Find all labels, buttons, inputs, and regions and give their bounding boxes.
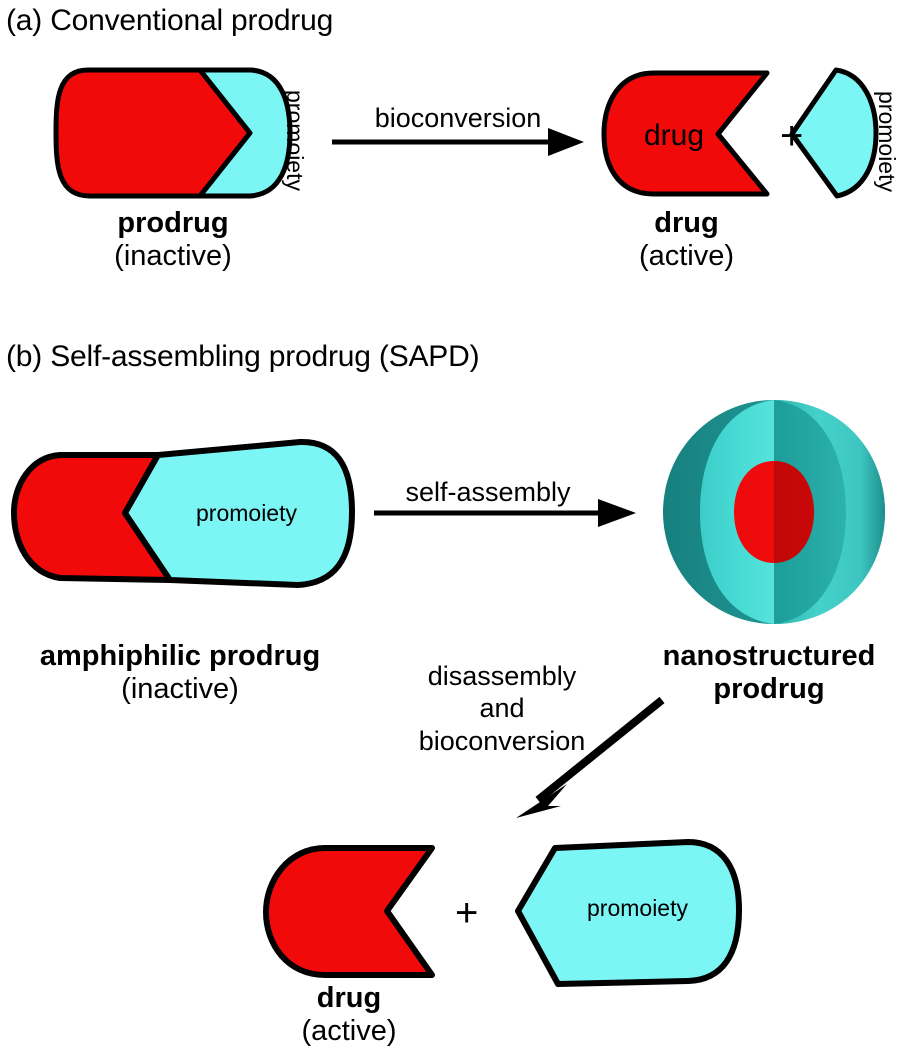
panel-b-product-drug — [266, 848, 432, 975]
panel-a-drug-caption: drug (active) — [604, 207, 769, 273]
disassembly-label-line2: and — [388, 692, 616, 724]
disassembly-label-line3: bioconversion — [388, 725, 616, 757]
drug-body — [604, 73, 767, 194]
promoiety-body — [518, 842, 739, 984]
panel-b-amphiphilic-caption-bold: amphiphilic prodrug — [10, 640, 350, 673]
promoiety-body — [792, 70, 876, 196]
panel-a-drug-shape — [604, 73, 767, 194]
panel-a-promoiety-shape — [792, 70, 876, 196]
panel-a-drug-caption-bold: drug — [604, 207, 769, 240]
disassembly-label-line1: disassembly — [388, 660, 616, 692]
promoiety-tail-segment — [125, 442, 352, 585]
panel-b-product-drug-caption-plain: (active) — [266, 1015, 432, 1048]
diagram-graphics — [0, 0, 908, 1058]
panel-a-title: (a) Conventional prodrug — [6, 4, 333, 38]
panel-a-prodrug-caption-bold: prodrug — [56, 207, 290, 240]
panel-b-title: (b) Self-assembling prodrug (SAPD) — [6, 340, 479, 374]
panel-b-plus-sign: + — [455, 893, 478, 933]
panel-a-drug-caption-plain: (active) — [604, 240, 769, 273]
figure-canvas: (a) Conventional prodrug promoiety prodr… — [0, 0, 908, 1058]
panel-a-prodrug-caption: prodrug (inactive) — [56, 207, 290, 273]
panel-b-product-drug-caption: drug (active) — [266, 982, 432, 1048]
panel-b-amphiphilic-caption: amphiphilic prodrug (inactive) — [10, 640, 350, 706]
panel-b-amphiphilic-caption-plain: (inactive) — [10, 673, 350, 706]
panel-b-product-promoiety — [518, 842, 739, 984]
nanostructured-sphere — [663, 400, 885, 624]
disassembly-arrow-label: disassembly and bioconversion — [388, 660, 616, 757]
drug-body — [266, 848, 432, 975]
panel-b-product-drug-caption-bold: drug — [266, 982, 432, 1015]
bioconversion-arrow-label: bioconversion — [332, 103, 584, 134]
panel-a-prodrug-capsule — [56, 70, 290, 196]
nanostructure-caption-line1: nanostructured — [630, 640, 908, 673]
nanostructure-caption: nanostructured prodrug — [630, 640, 908, 706]
panel-a-prodrug-caption-plain: (inactive) — [56, 240, 290, 273]
panel-b-amphiphilic-prodrug — [14, 442, 352, 585]
panel-a-plus-sign: + — [780, 116, 803, 156]
self-assembly-arrow-label: self-assembly — [374, 477, 602, 508]
nanostructure-caption-line2: prodrug — [630, 673, 908, 706]
